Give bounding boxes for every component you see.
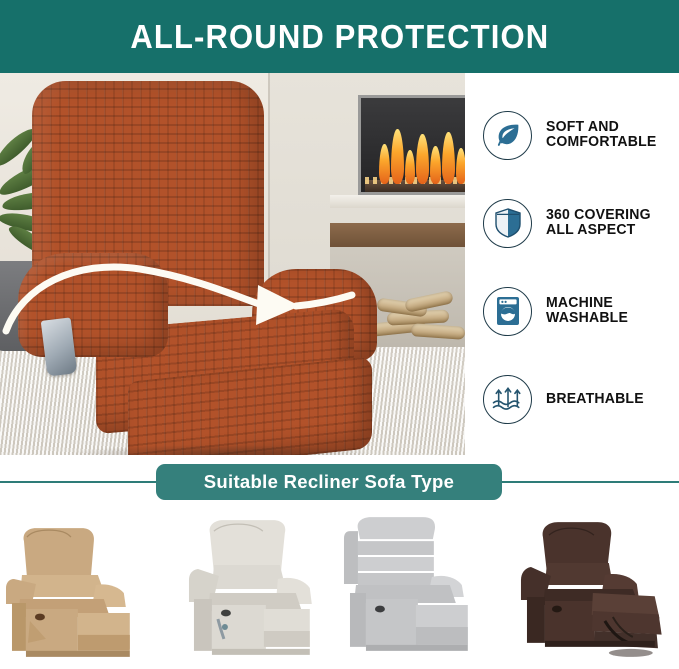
washing-machine-icon xyxy=(483,287,532,336)
divider-rule-right xyxy=(500,481,679,483)
recliner-thumb-light-grey[interactable] xyxy=(340,513,510,669)
suitable-type-banner: Suitable Recliner Sofa Type xyxy=(156,464,502,500)
leaf-icon xyxy=(483,111,532,160)
feature-360-covering: 360 COVERING ALL ASPECT xyxy=(465,179,679,267)
feature-machine-washable: MACHINE WASHABLE xyxy=(465,267,679,355)
hero-section: SOFT AND COMFORTABLE 360 COVERING ALL AS… xyxy=(0,73,679,455)
curved-arrow-icon xyxy=(0,73,465,455)
feature-label: MACHINE WASHABLE xyxy=(546,296,628,326)
feature-breathable: BREATHABLE xyxy=(465,355,679,443)
product-photo xyxy=(0,73,465,455)
recliner-type-gallery xyxy=(0,513,679,669)
feature-label: 360 COVERING ALL ASPECT xyxy=(546,208,651,238)
feature-soft-and-comfortable: SOFT AND COMFORTABLE xyxy=(465,91,679,179)
divider-rule-left xyxy=(0,481,182,483)
feature-label: SOFT AND COMFORTABLE xyxy=(546,120,656,150)
page-title: ALL-ROUND PROTECTION xyxy=(130,18,549,56)
recliner-thumb-cream[interactable] xyxy=(170,513,340,669)
feature-label: BREATHABLE xyxy=(546,392,644,407)
section-divider: Suitable Recliner Sofa Type xyxy=(0,455,679,513)
breathable-icon xyxy=(483,375,532,424)
recliner-thumb-tan[interactable] xyxy=(0,513,170,669)
recliner-thumb-dark-brown[interactable] xyxy=(509,513,679,669)
feature-list: SOFT AND COMFORTABLE 360 COVERING ALL AS… xyxy=(465,73,679,455)
shield-icon xyxy=(483,199,532,248)
header-banner: ALL-ROUND PROTECTION xyxy=(0,0,679,73)
suitable-type-label: Suitable Recliner Sofa Type xyxy=(204,471,454,493)
